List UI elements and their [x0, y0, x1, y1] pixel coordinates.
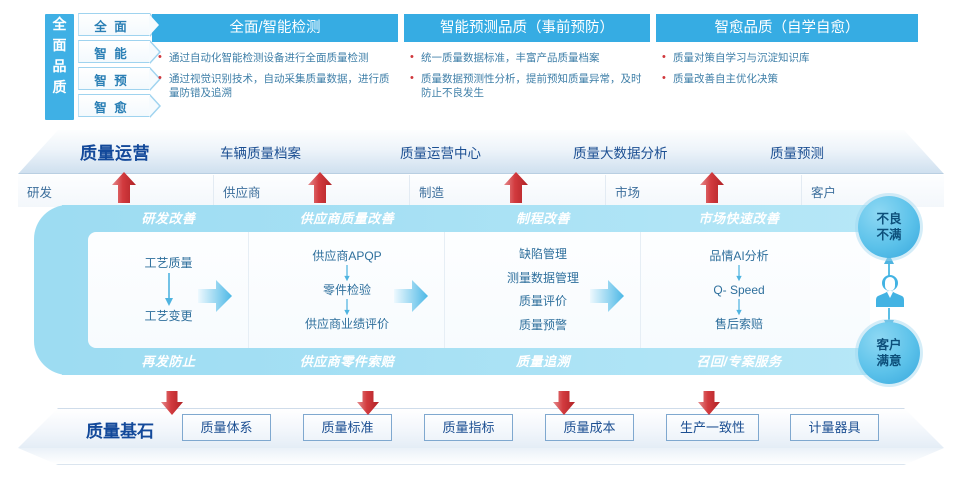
- column-label: 市场: [615, 182, 640, 201]
- up-arrow-icon: [110, 170, 138, 204]
- down-arrow-icon: [355, 390, 381, 416]
- up-arrow-icon: [502, 170, 530, 204]
- panel-title: 智能预测品质（事前预防）: [404, 14, 650, 42]
- vertical-char-2: 品: [45, 56, 74, 77]
- ops-banner-title: 质量运营: [80, 139, 150, 164]
- process-item[interactable]: 质量预警: [519, 318, 567, 333]
- column-label: 制造: [419, 182, 444, 201]
- process-bottom-label: 供应商零件索赔: [249, 348, 445, 375]
- panel-bullet: 质量数据预测性分析，提前预知质量异常，及时防止不良发生: [410, 72, 646, 100]
- process-top-label: 制程改善: [445, 205, 641, 232]
- ops-item-bigdata-analysis[interactable]: 质量大数据分析: [573, 142, 668, 162]
- column-label: 客户: [811, 182, 836, 201]
- process-top-label: 市场快速改善: [641, 205, 837, 232]
- foundation-title: 质量基石: [86, 417, 154, 442]
- process-item[interactable]: 工艺变更: [144, 309, 192, 324]
- up-arrow-icon: [306, 170, 334, 204]
- circle-line-2: 不满: [876, 227, 901, 243]
- process-item[interactable]: 缺陷管理: [519, 247, 567, 262]
- right-arrow-icon: [392, 278, 430, 314]
- process-item[interactable]: 测量数据管理: [507, 271, 579, 286]
- panel-title: 全面/智能检测: [152, 14, 398, 42]
- foundation-box-quality-standard[interactable]: 质量标准: [303, 414, 392, 441]
- capability-tab-label: 全 面: [79, 16, 144, 35]
- status-circle-satisfaction[interactable]: 客户 满意: [858, 322, 920, 384]
- quality-foundation-section: 质量基石 质量体系 质量标准 质量指标 质量成本 生产一致性 计量器具: [18, 408, 944, 468]
- capability-tab-label: 智 愈: [79, 97, 144, 116]
- capability-tab-label: 智 预: [79, 70, 144, 89]
- process-bottom-label: 再发防止: [88, 348, 249, 375]
- process-item[interactable]: 零件检验: [323, 283, 371, 298]
- process-item[interactable]: 品情AI分析: [709, 249, 768, 264]
- quality-operations-banner: 质量运营 车辆质量档案 质量运营中心 质量大数据分析 质量预测: [18, 130, 944, 174]
- vertical-char-3: 质: [45, 77, 74, 98]
- up-arrow-icon: [698, 170, 726, 204]
- process-item[interactable]: 供应商业绩评价: [305, 317, 389, 332]
- ops-item-vehicle-archive[interactable]: 车辆质量档案: [220, 142, 301, 162]
- process-item[interactable]: 售后索赔: [715, 317, 763, 332]
- down-arrow-icon: [159, 390, 185, 416]
- down-arrow-icon: [163, 272, 175, 308]
- capability-tab-list: 全 面 智 能 智 预 智 愈: [78, 13, 150, 121]
- process-item[interactable]: 质量评价: [519, 294, 567, 309]
- panel-bullet: 质量对策自学习与沉淀知识库: [662, 51, 914, 65]
- right-arrow-icon: [588, 278, 626, 314]
- ops-item-operations-center[interactable]: 质量运营中心: [400, 142, 481, 162]
- down-arrow-icon: [341, 299, 353, 316]
- foundation-box-quality-system[interactable]: 质量体系: [182, 414, 271, 441]
- vertical-char-1: 面: [45, 35, 74, 56]
- foundation-base-shadow: [18, 448, 944, 465]
- process-item-list: 品情AI分析 Q- Speed 售后索赔: [641, 232, 837, 348]
- down-arrow-icon: [551, 390, 577, 416]
- panel-bullet: 质量改善自主优化决策: [662, 72, 914, 86]
- capability-band: 全 面 品 质 全 面 智 能 智 预 智 愈 全面/智能检测 通过自动化智能检…: [0, 0, 962, 126]
- capability-tab-zhiyu-heal[interactable]: 智 愈: [78, 94, 150, 117]
- panel-title: 智愈品质（自学自愈）: [656, 14, 918, 42]
- panel-bullet: 统一质量数据标准，丰富产品质量档案: [410, 51, 646, 65]
- customer-person-icon: [874, 274, 906, 308]
- capability-panel-selfhealing: 智愈品质（自学自愈） 质量对策自学习与沉淀知识库 质量改善自主优化决策: [656, 14, 918, 118]
- capability-panel-detection: 全面/智能检测 通过自动化智能检测设备进行全面质量检测 通过视觉识别技术，自动采…: [152, 14, 398, 118]
- circle-line-1: 客户: [876, 337, 901, 353]
- process-column-market: 市场快速改善 品情AI分析 Q- Speed 售后索赔 召回/专案服务: [641, 205, 837, 375]
- capability-tab-zhiyu-predict[interactable]: 智 预: [78, 67, 150, 90]
- down-arrow-icon: [733, 299, 745, 316]
- improvement-process-band: 研发改善 工艺质量 工艺变更 再发防止 供应商质量改善 供应商APQP 零件检验…: [34, 205, 870, 375]
- process-top-label: 供应商质量改善: [249, 205, 445, 232]
- panel-bullet: 通过自动化智能检测设备进行全面质量检测: [158, 51, 394, 65]
- process-item[interactable]: 供应商APQP: [312, 249, 381, 264]
- vertical-category-label: 全 面 品 质: [45, 14, 74, 120]
- process-top-label: 研发改善: [88, 205, 249, 232]
- ops-item-quality-forecast[interactable]: 质量预测: [770, 142, 824, 162]
- process-bottom-label: 召回/专案服务: [641, 348, 837, 375]
- status-circle-defect[interactable]: 不良 不满: [858, 196, 920, 258]
- right-arrow-icon: [196, 278, 234, 314]
- foundation-box-measuring-tools[interactable]: 计量器具: [790, 414, 879, 441]
- foundation-box-production-consistency[interactable]: 生产一致性: [666, 414, 759, 441]
- capability-tab-label: 智 能: [79, 43, 144, 62]
- panel-bullet: 通过视觉识别技术，自动采集质量数据，进行质量防错及追溯: [158, 72, 394, 100]
- column-label: 供应商: [223, 182, 261, 201]
- process-item[interactable]: Q- Speed: [713, 283, 764, 298]
- down-arrow-icon: [696, 390, 722, 416]
- customer-feedback-loop: 不良 不满 客户 满意: [852, 196, 932, 384]
- vertical-char-0: 全: [45, 14, 74, 35]
- down-arrow-icon: [733, 265, 745, 282]
- down-arrow-icon: [341, 265, 353, 282]
- circle-line-1: 不良: [876, 211, 901, 227]
- lifecycle-column-headers: 研发 供应商 制造 市场 客户: [18, 175, 944, 207]
- process-bottom-label: 质量追溯: [445, 348, 641, 375]
- circle-line-2: 满意: [876, 353, 901, 369]
- capability-tab-quanmian[interactable]: 全 面: [78, 13, 150, 36]
- foundation-box-quality-cost[interactable]: 质量成本: [545, 414, 634, 441]
- foundation-box-quality-index[interactable]: 质量指标: [424, 414, 513, 441]
- capability-panel-prediction: 智能预测品质（事前预防） 统一质量数据标准，丰富产品质量档案 质量数据预测性分析…: [404, 14, 650, 118]
- process-item[interactable]: 工艺质量: [144, 256, 192, 271]
- column-label: 研发: [27, 182, 52, 201]
- capability-tab-zhineng[interactable]: 智 能: [78, 40, 150, 63]
